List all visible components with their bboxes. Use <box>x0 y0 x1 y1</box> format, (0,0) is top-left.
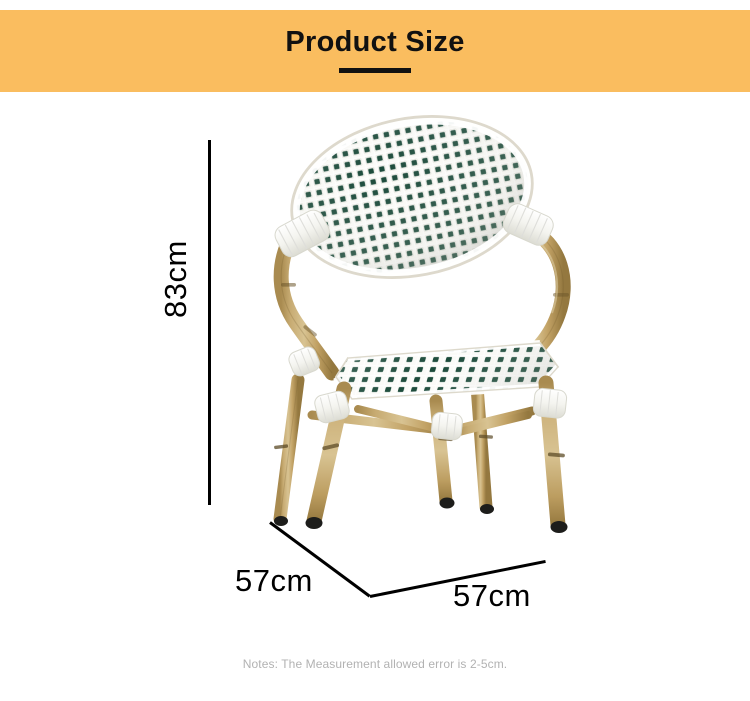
width-dimension-label: 57cm <box>453 578 531 614</box>
depth-dimension-label: 57cm <box>235 563 313 599</box>
height-dimension-line <box>208 140 211 505</box>
title-underline <box>339 68 411 73</box>
product-size-page: Product Size <box>0 0 750 701</box>
measurement-note: Notes: The Measurement allowed error is … <box>0 657 750 671</box>
header-banner: Product Size <box>0 10 750 92</box>
page-title: Product Size <box>285 28 464 57</box>
product-image-chair <box>240 115 620 575</box>
height-dimension-label: 83cm <box>158 258 194 318</box>
